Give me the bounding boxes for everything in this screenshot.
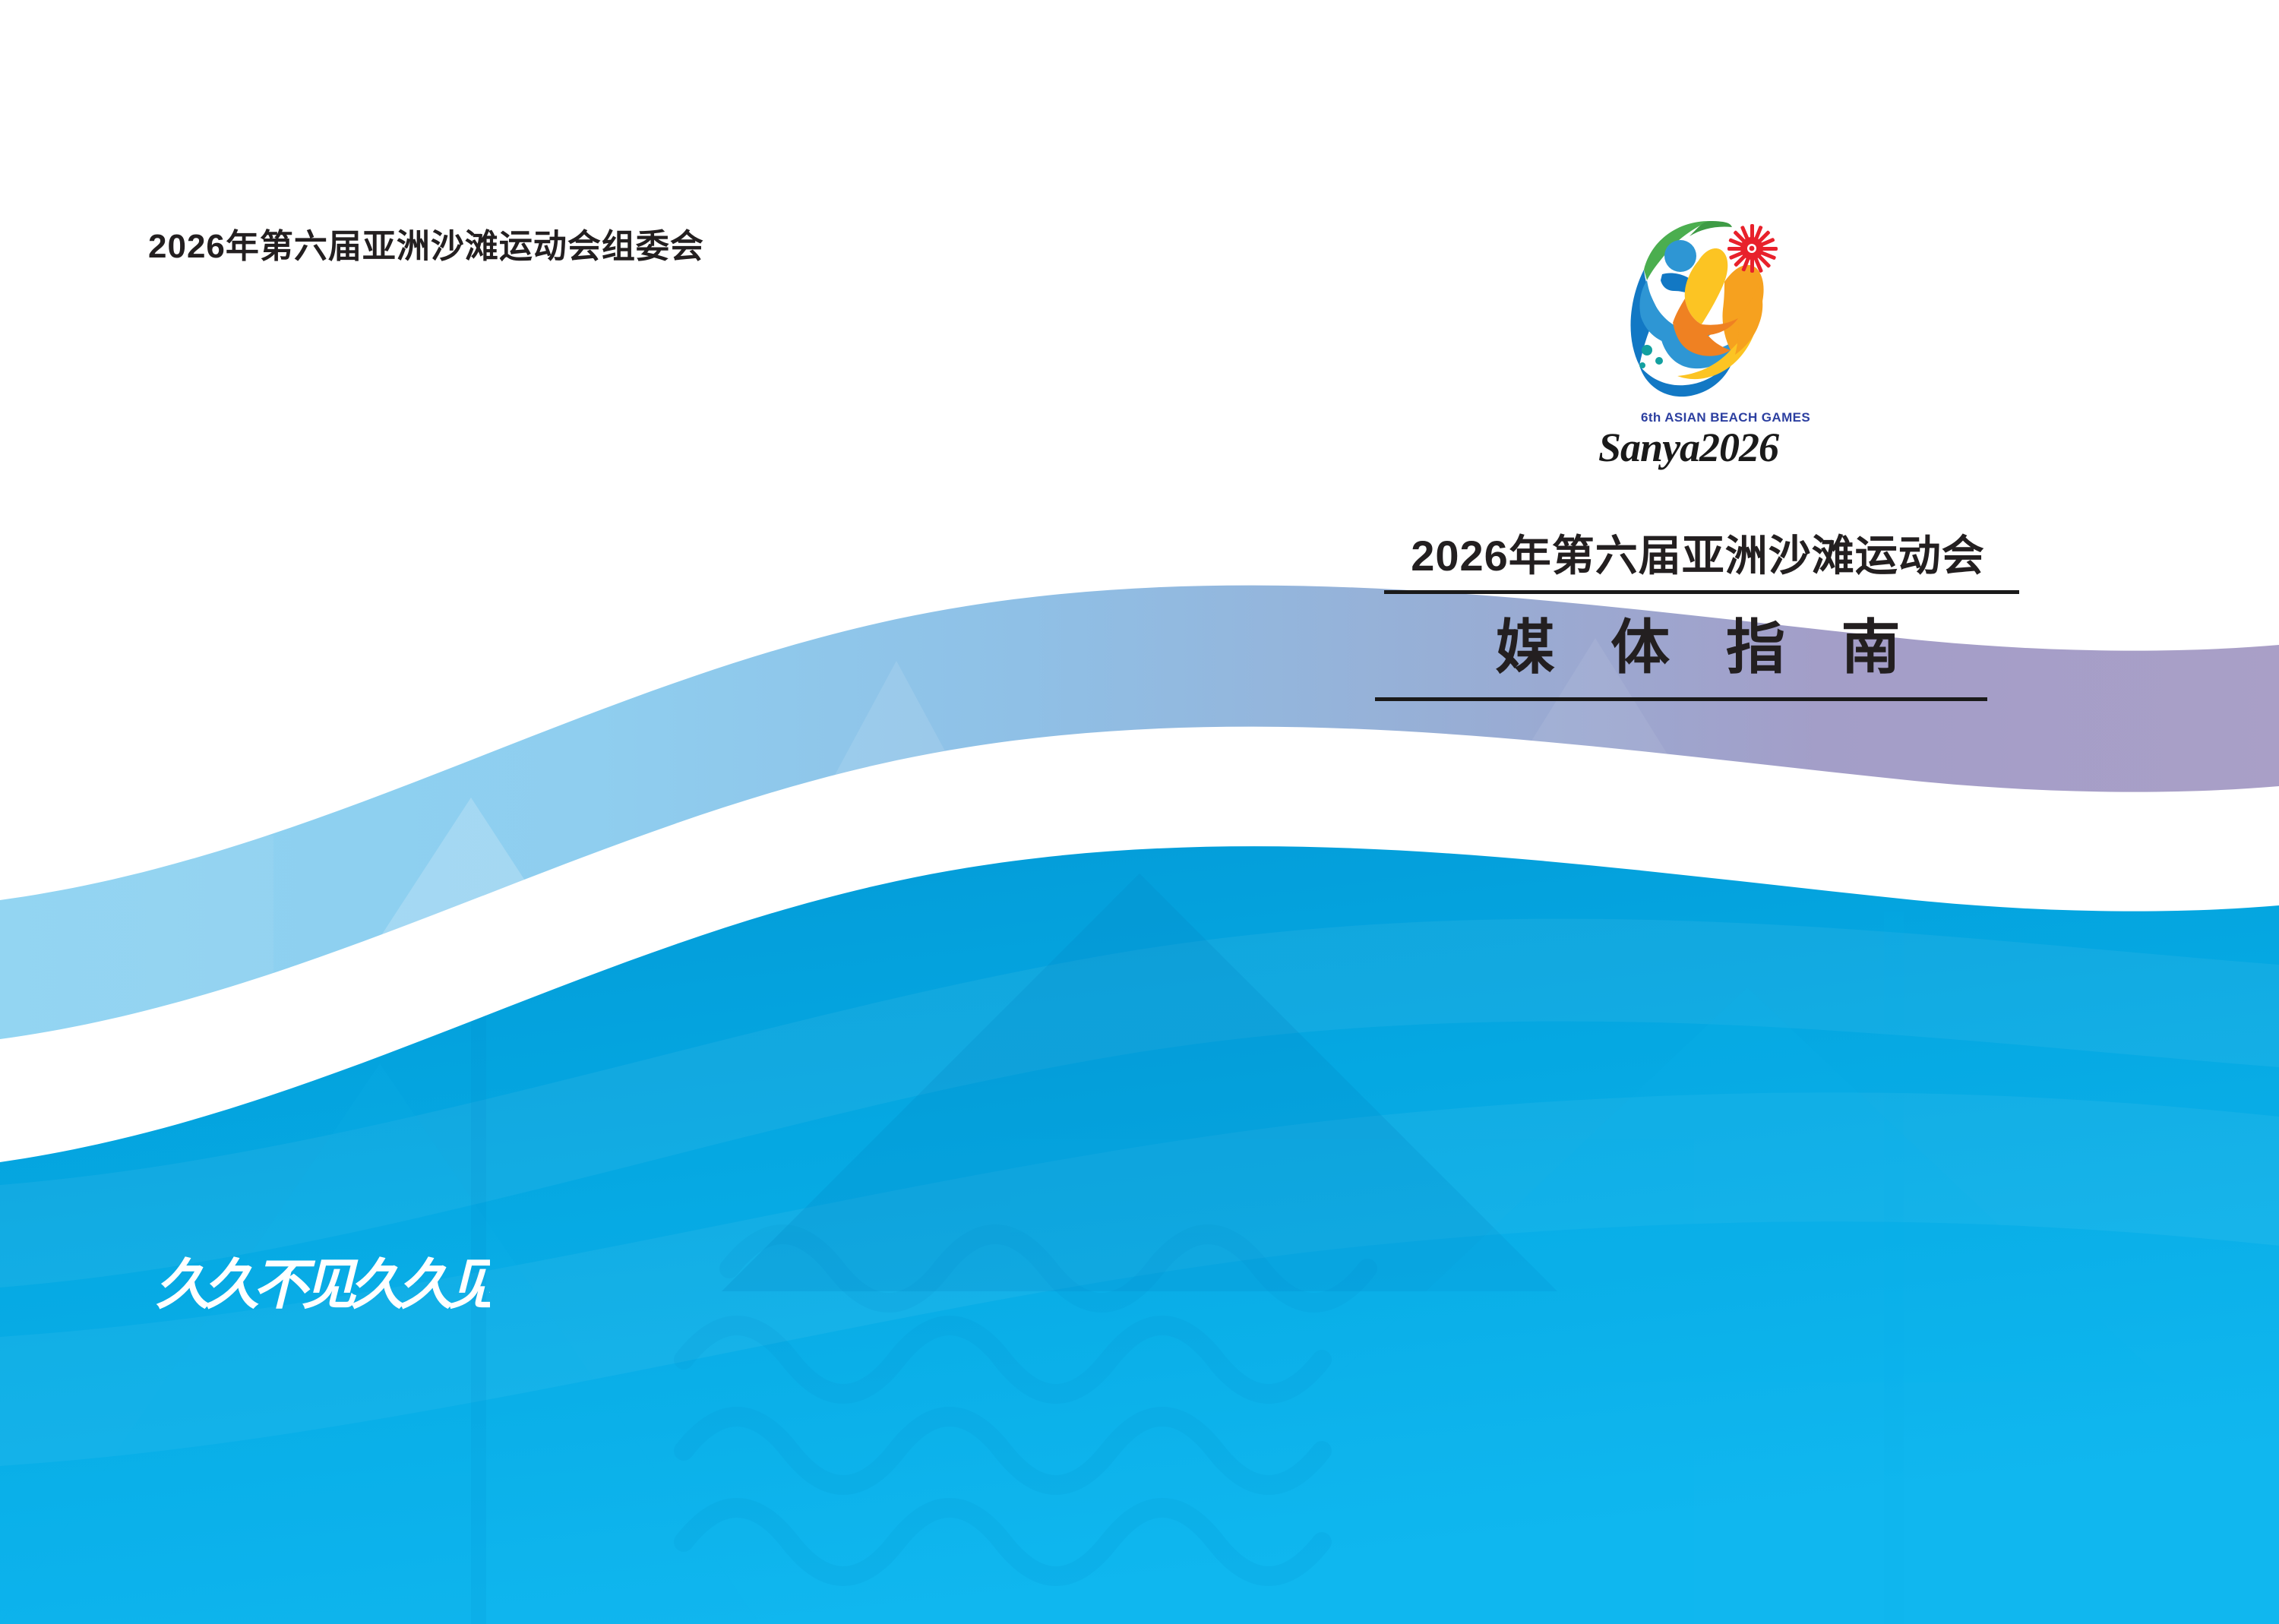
sun-icon (1727, 224, 1778, 273)
games-emblem: 6th ASIAN BEACH GAMES Sanya2026 (1595, 216, 1846, 479)
emblem-wordmark: 6th ASIAN BEACH GAMES Sanya2026 (1595, 405, 1846, 473)
page-title-line2: 媒 体 指 南 (1364, 612, 2032, 682)
emblem-wordmark-text: Sanya2026 (1598, 425, 1779, 470)
slogan-calligraphy: 久久不见久久见 (156, 1240, 490, 1331)
lower-wave-band (0, 846, 2279, 1624)
slogan-text: 久久不见久久见 (156, 1255, 490, 1316)
title-rule-bottom (1375, 697, 1987, 701)
page-title-line1: 2026年第六届亚洲沙滩运动会 (1364, 532, 2032, 581)
title-rule-top (1384, 590, 2019, 594)
sanya-2026-emblem-icon (1617, 216, 1799, 406)
organising-committee-label: 2026年第六届亚洲沙滩运动会组委会 (148, 219, 704, 267)
media-guide-cover: 2026年第六届亚洲沙滩运动会组委会 (0, 0, 2279, 1624)
cover-title-block: 2026年第六届亚洲沙滩运动会 媒 体 指 南 (1364, 532, 2032, 701)
emblem-tagline: 6th ASIAN BEACH GAMES (1641, 410, 1810, 425)
